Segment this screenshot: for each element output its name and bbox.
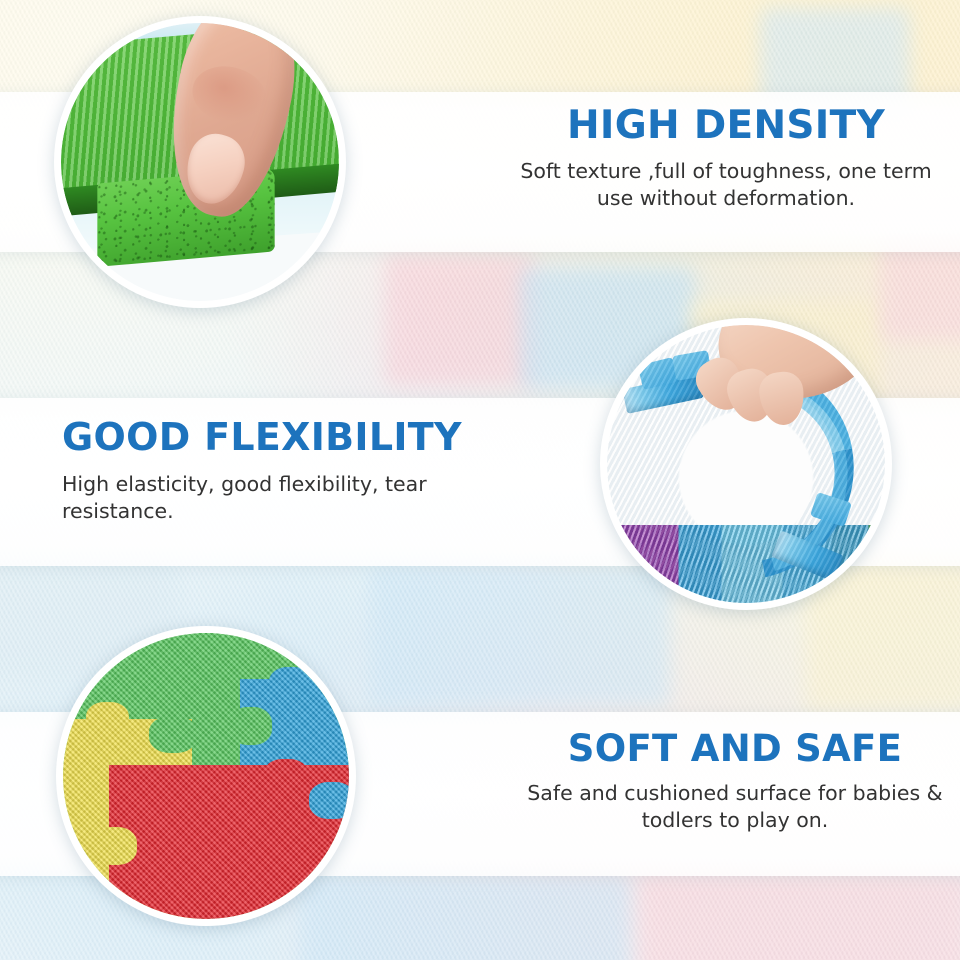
infographic-canvas: HIGH DENSITY Soft texture ,full of tough… [0, 0, 960, 960]
photo-good-flexibility [600, 318, 892, 610]
feature-title-soft-and-safe: SOFT AND SAFE [520, 730, 950, 769]
feature-title-good-flexibility: GOOD FLEXIBILITY [62, 418, 492, 458]
feature-description-high-density: Soft texture ,full of toughness, one ter… [500, 158, 952, 212]
photo-high-density [54, 16, 346, 308]
photo3-foam-weave-texture [63, 633, 349, 919]
photo-soft-and-safe [56, 626, 356, 926]
feature-description-soft-and-safe: Safe and cushioned surface for babies & … [520, 780, 950, 834]
feature-description-good-flexibility: High elasticity, good flexibility, tear … [62, 471, 492, 525]
feature-text-soft-and-safe: SOFT AND SAFE Safe and cushioned surface… [520, 730, 950, 834]
feature-text-good-flexibility: GOOD FLEXIBILITY High elasticity, good f… [62, 418, 492, 525]
feature-text-high-density: HIGH DENSITY Soft texture ,full of tough… [500, 106, 952, 212]
feature-title-high-density: HIGH DENSITY [500, 106, 952, 147]
